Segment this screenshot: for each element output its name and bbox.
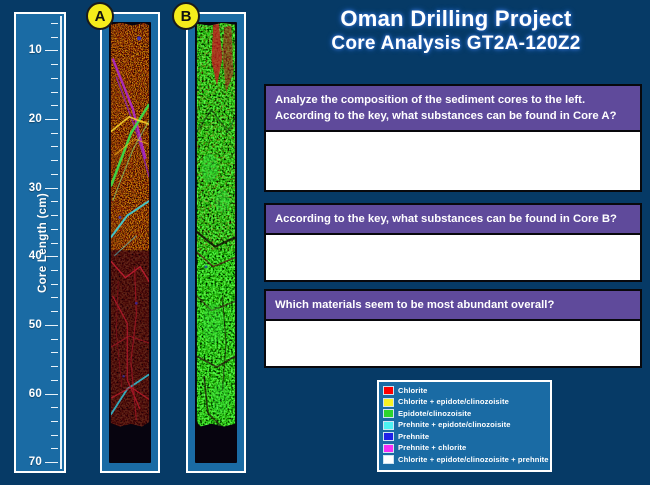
scale-tick-minor [51,146,58,147]
question-prompt-line: Analyze the composition of the sediment … [275,92,632,108]
question-block-overall: Which materials seem to be most abundant… [264,289,642,368]
scale-tick-minor [51,352,58,353]
scale-tick-major [45,50,58,51]
scale-tick-minor [51,407,58,408]
legend-label: Prehnite + chlorite [398,444,466,452]
scale-tick-major [45,325,58,326]
scale-tick-minor [51,243,58,244]
scale-tick-minor [51,229,58,230]
scale-tick-minor [51,284,58,285]
legend-item: Chlorite + epidote/clinozoisite + prehni… [383,454,546,465]
scale-tick-minor [51,448,58,449]
question-prompt-line: According to the key, what substances ca… [275,211,632,227]
answer-field-core-a[interactable] [266,132,640,190]
project-subtitle: Core Analysis GT2A-120Z2 [262,33,650,55]
mineral-key-legend: ChloriteChlorite + epidote/clinozoisiteE… [377,380,552,472]
scale-tick-minor [51,311,58,312]
legend-color-swatch [383,386,394,395]
legend-color-swatch [383,444,394,453]
scale-tick-minor [51,37,58,38]
question-block-core-b: According to the key, what substances ca… [264,203,642,282]
question-prompt-line: According to the key, what substances ca… [275,108,632,124]
scale-tick-minor [51,174,58,175]
legend-item: Chlorite [383,385,546,396]
answer-field-overall[interactable] [266,321,640,366]
scale-tick-minor [51,92,58,93]
legend-item: Prehnite [383,431,546,442]
legend-item: Chlorite + epidote/clinozoisite [383,397,546,408]
legend-item: Prehnite + epidote/clinozoisite [383,420,546,431]
core-image-b [195,22,237,463]
core-image-a [109,22,151,463]
scale-tick-minor [51,215,58,216]
legend-label: Chlorite [398,387,428,395]
legend-label: Chlorite + epidote/clinozoisite [398,398,509,406]
scale-tick-minor [51,366,58,367]
scale-tick-minor [51,23,58,24]
depth-axis-label: Core Length (cm) [37,168,49,318]
project-title: Oman Drilling Project [262,6,650,32]
depth-scale-panel: 10203040506070 Core Length (cm) [14,12,66,473]
scale-tick-label: 50 [29,319,42,331]
question-block-core-a: Analyze the composition of the sediment … [264,84,642,192]
answer-field-core-b[interactable] [266,235,640,280]
scale-tick-minor [51,201,58,202]
legend-color-swatch [383,409,394,418]
legend-color-swatch [383,421,394,430]
core-panel-b [186,12,246,473]
scale-tick-minor [51,380,58,381]
legend-label: Prehnite [398,433,429,441]
scale-tick-major [45,462,58,463]
scale-tick-minor [51,421,58,422]
core-panel-a [100,12,160,473]
scale-tick-major [45,119,58,120]
page-title: Oman Drilling Project Core Analysis GT2A… [262,6,650,55]
scale-tick-label: 10 [29,44,42,56]
legend-color-swatch [383,432,394,441]
scale-tick-minor [51,435,58,436]
core-label-badge-b: B [172,2,200,30]
question-prompt-core-a: Analyze the composition of the sediment … [266,86,640,132]
scale-tick-label: 70 [29,456,42,468]
scale-tick-minor [51,105,58,106]
scale-tick-minor [51,339,58,340]
legend-label: Chlorite + epidote/clinozoisite + prehni… [398,456,549,464]
scale-tick-minor [51,64,58,65]
legend-label: Prehnite + epidote/clinozoisite [398,421,511,429]
legend-item: Epidote/clinozoisite [383,408,546,419]
scale-tick-minor [51,160,58,161]
scale-tick-minor [51,297,58,298]
question-prompt-core-b: According to the key, what substances ca… [266,205,640,235]
question-prompt-line: Which materials seem to be most abundant… [275,297,632,313]
core-label-badge-a: A [86,2,114,30]
scale-tick-major [45,394,58,395]
question-prompt-overall: Which materials seem to be most abundant… [266,291,640,321]
scale-tick-label: 20 [29,113,42,125]
legend-color-swatch [383,398,394,407]
scale-tick-minor [51,133,58,134]
scale-tick-minor [51,78,58,79]
core-a-thin-section-image [109,22,151,428]
scale-tick-minor [51,270,58,271]
legend-color-swatch [383,455,394,464]
legend-item: Prehnite + chlorite [383,443,546,454]
scale-tick-label: 60 [29,388,42,400]
core-b-thin-section-image [195,22,237,428]
legend-label: Epidote/clinozoisite [398,410,471,418]
